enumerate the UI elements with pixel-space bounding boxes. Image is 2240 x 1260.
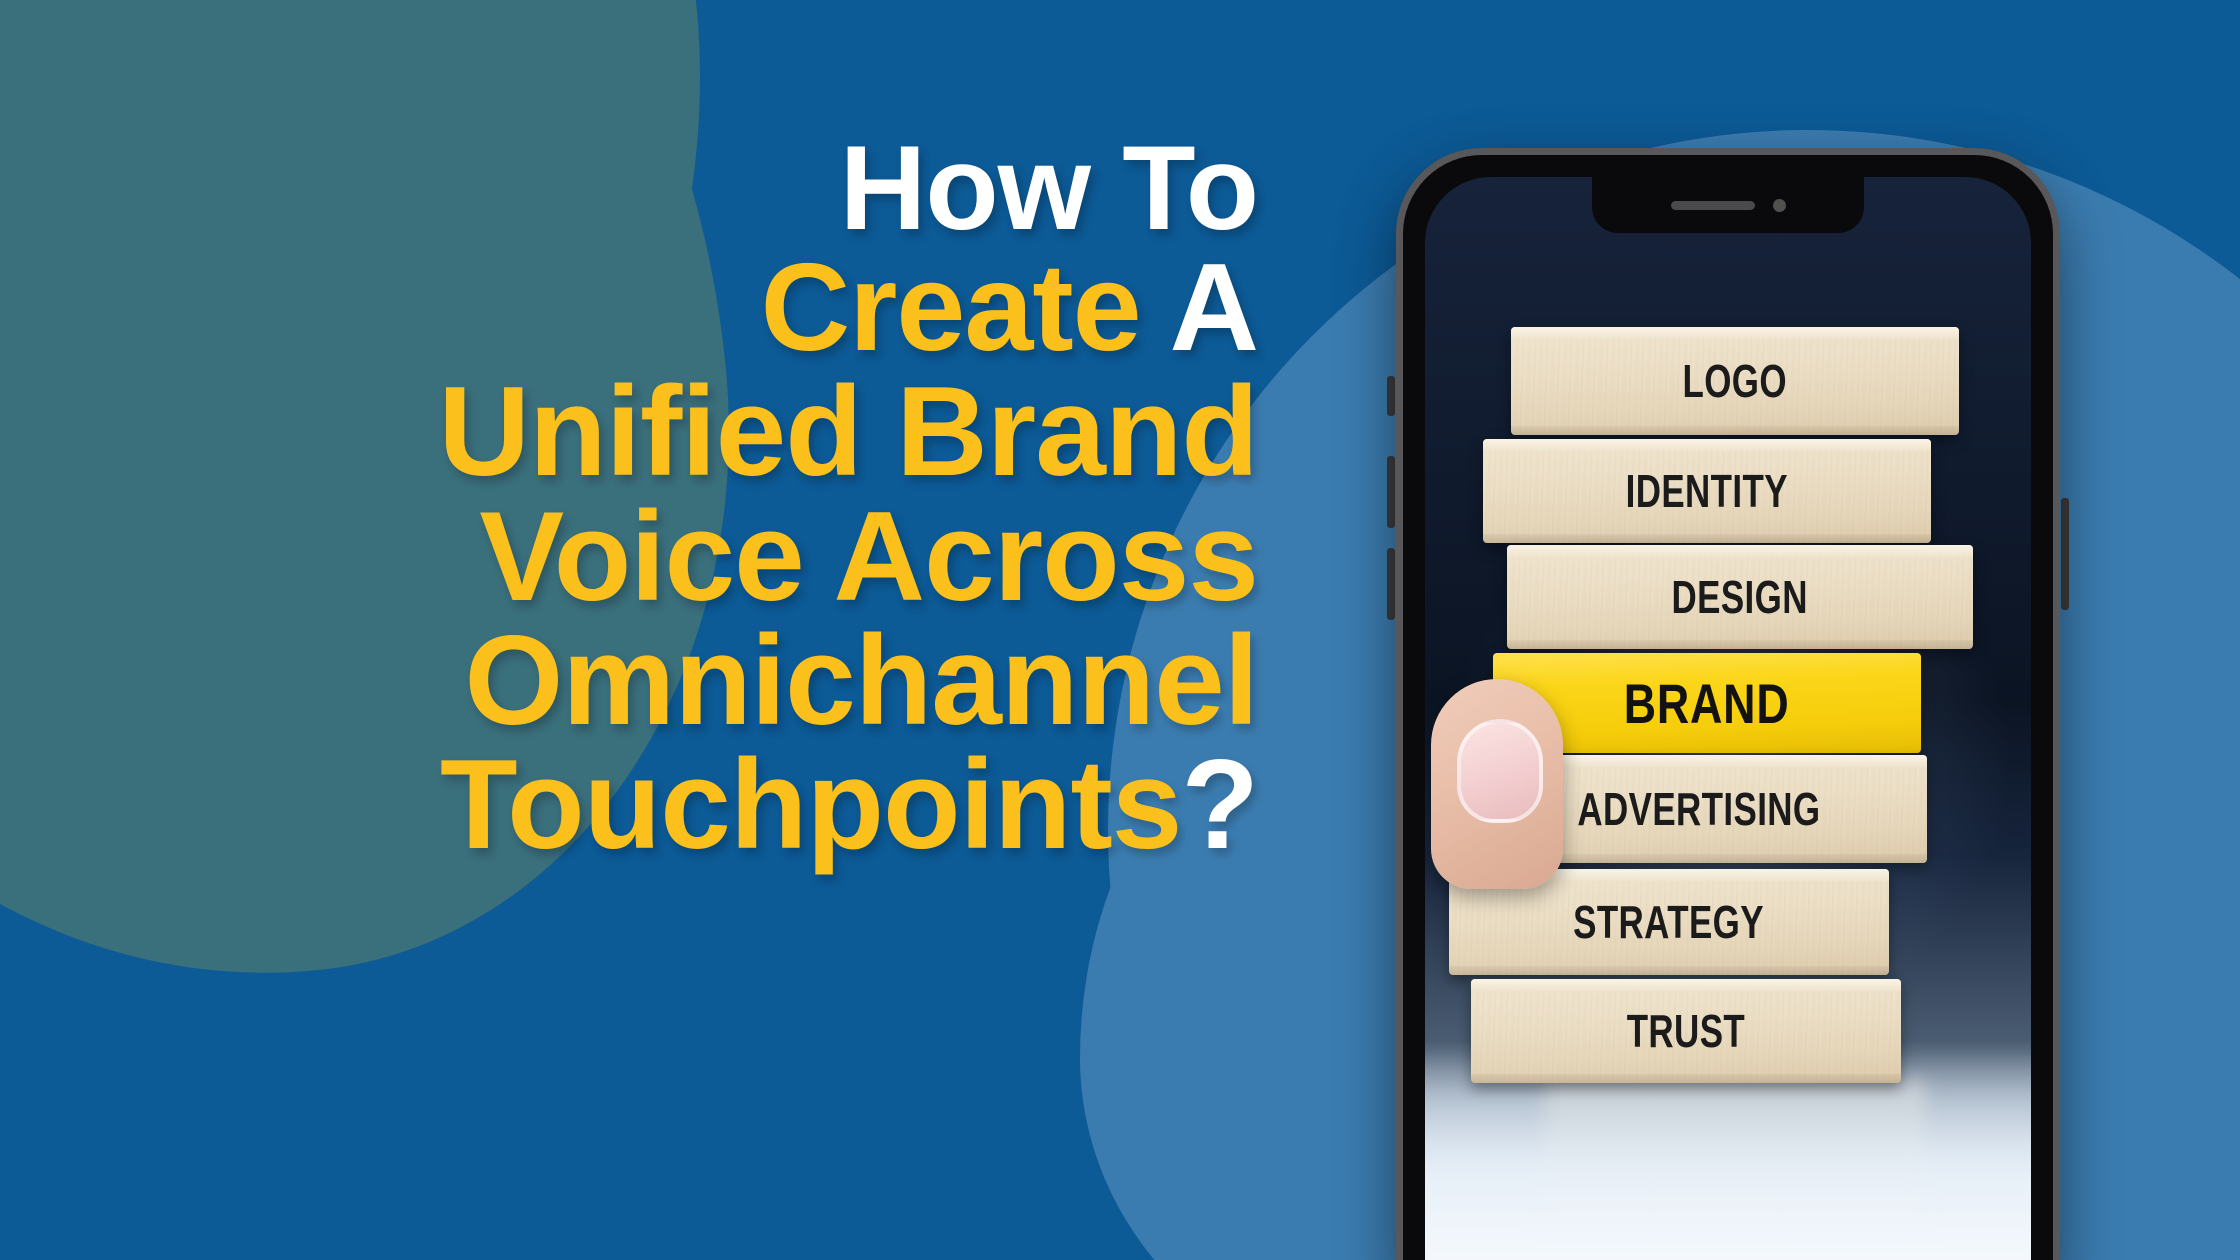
- headline-line-1: How To: [118, 130, 1258, 248]
- block-label-advertising: ADVERTISING: [1577, 782, 1820, 836]
- headline-question-mark: ?: [1181, 733, 1258, 875]
- block-label-logo: LOGO: [1683, 354, 1787, 408]
- block-bottom-edge: [1511, 426, 1959, 435]
- headline-line-3-text: Unified Brand: [438, 360, 1258, 502]
- block-label-trust: TRUST: [1627, 1004, 1745, 1058]
- block-bottom-edge: [1471, 1074, 1901, 1083]
- block-top-edge: [1511, 327, 1959, 339]
- headline-line-2-white: A: [1141, 239, 1258, 377]
- block-trust: TRUST: [1471, 979, 1901, 1083]
- headline-line-4: Voice Across: [118, 494, 1258, 618]
- block-top-edge: [1483, 439, 1931, 451]
- headline-line-3: Unified Brand: [118, 369, 1258, 493]
- block-identity: IDENTITY: [1483, 439, 1931, 543]
- headline-line-5: Omnichannel: [118, 618, 1258, 742]
- phone-screen: LOGO IDENTITY DESIGN BRAND: [1425, 177, 2031, 1260]
- block-bottom-edge: [1483, 534, 1931, 543]
- block-label-identity: IDENTITY: [1626, 464, 1788, 518]
- smartphone-mockup: LOGO IDENTITY DESIGN BRAND: [1396, 148, 2060, 1260]
- poster-canvas: How To Create A Unified Brand Voice Acro…: [0, 0, 2240, 1260]
- headline-title: How To Create A Unified Brand Voice Acro…: [118, 130, 1258, 867]
- hand-thumb: [1431, 679, 1563, 889]
- block-label-design: DESIGN: [1672, 570, 1808, 624]
- speaker-slot-icon: [1671, 201, 1755, 210]
- headline-line-4-text: Voice Across: [479, 485, 1258, 627]
- mute-switch[interactable]: [1387, 376, 1395, 416]
- block-label-brand: BRAND: [1624, 671, 1790, 736]
- block-top-edge: [1507, 545, 1973, 557]
- volume-down-button[interactable]: [1387, 548, 1395, 620]
- block-design: DESIGN: [1507, 545, 1973, 649]
- headline-line-1-text: How To: [840, 121, 1258, 255]
- wooden-block-stack: LOGO IDENTITY DESIGN BRAND: [1425, 327, 2031, 1260]
- headline-line-6-yellow: Touchpoints: [440, 733, 1181, 875]
- thumbnail-detail: [1457, 719, 1543, 823]
- block-logo: LOGO: [1511, 327, 1959, 435]
- block-label-strategy: STRATEGY: [1574, 895, 1765, 949]
- block-bottom-edge: [1507, 640, 1973, 649]
- headline-line-2-yellow: Create: [761, 239, 1141, 377]
- phone-frame: LOGO IDENTITY DESIGN BRAND: [1396, 148, 2060, 1260]
- front-camera-icon: [1773, 199, 1786, 212]
- block-bottom-edge: [1449, 966, 1889, 975]
- headline-line-5-text: Omnichannel: [465, 609, 1258, 751]
- power-button[interactable]: [2061, 498, 2069, 610]
- volume-up-button[interactable]: [1387, 456, 1395, 528]
- headline-line-2: Create A: [118, 248, 1258, 370]
- phone-notch: [1592, 177, 1864, 233]
- block-top-edge: [1471, 979, 1901, 991]
- headline-line-6: Touchpoints?: [118, 742, 1258, 866]
